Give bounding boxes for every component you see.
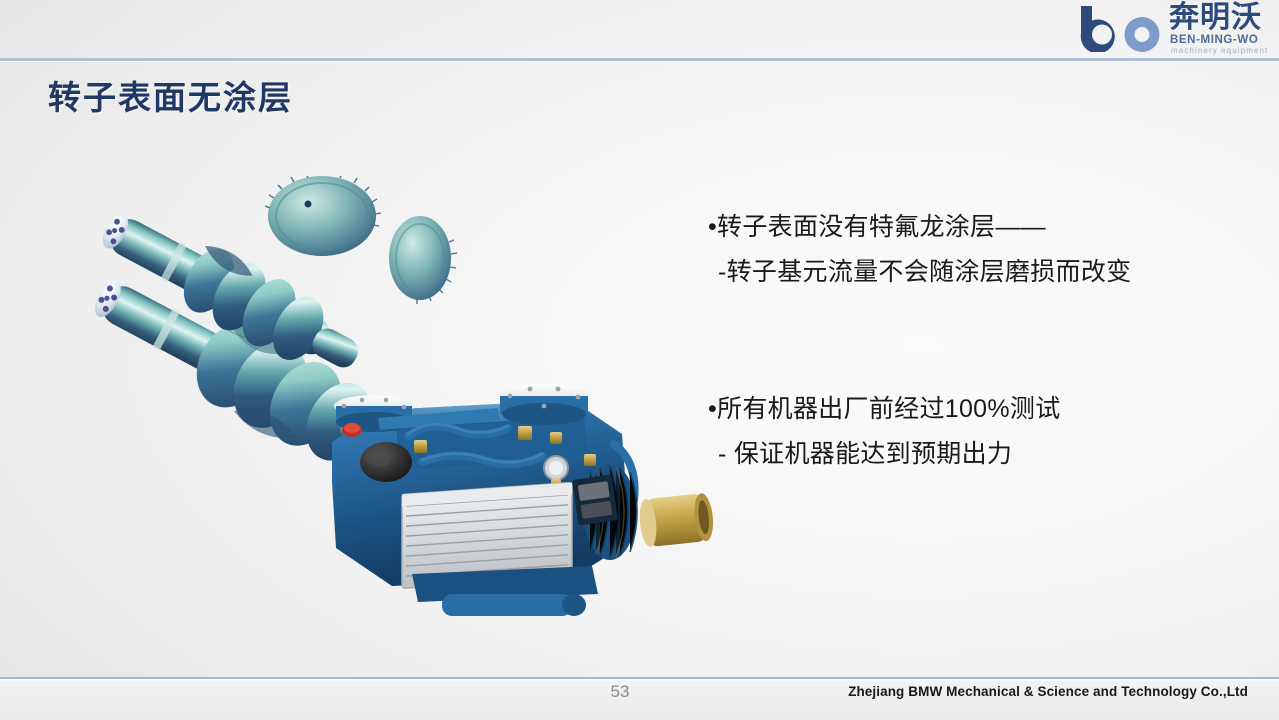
screw-compressor-unit-image (322, 362, 720, 630)
logo-chinese-name: 奔明沃 (1169, 2, 1262, 34)
slide-canvas: 奔明沃 BEN-MING-WO machinery equipment 转子表面… (0, 0, 1279, 720)
footer-company-name: Zhejiang BMW Mechanical & Science and Te… (848, 681, 1248, 703)
sub-line-1: -转子基元流量不会随涂层磨损而改变 (708, 250, 1253, 295)
bullet-group-2: •所有机器出厂前经过100%测试 - 保证机器能达到预期出力 (708, 387, 1253, 477)
footer-divider (0, 677, 1279, 679)
paragraph-spacer (708, 295, 1253, 387)
bullet-group-1: •转子表面没有特氟龙涂层—— -转子基元流量不会随涂层磨损而改变 (708, 205, 1253, 295)
logo-bo-mark-icon (1077, 4, 1169, 52)
logo-tagline: machinery equipment (1171, 46, 1268, 55)
bullet-line-2: •所有机器出厂前经过100%测试 (708, 387, 1253, 432)
page-number: 53 (596, 680, 644, 704)
header-divider (0, 58, 1279, 61)
logo-latin-name: BEN-MING-WO (1170, 34, 1258, 46)
sub-line-2: - 保证机器能达到预期出力 (708, 432, 1253, 477)
company-logo: 奔明沃 BEN-MING-WO machinery equipment (1075, 2, 1271, 56)
bullet-line-1: •转子表面没有特氟龙涂层—— (708, 205, 1253, 250)
page-title: 转子表面无涂层 (48, 76, 293, 120)
content-text-block: •转子表面没有特氟龙涂层—— -转子基元流量不会随涂层磨损而改变 •所有机器出厂… (708, 205, 1253, 477)
